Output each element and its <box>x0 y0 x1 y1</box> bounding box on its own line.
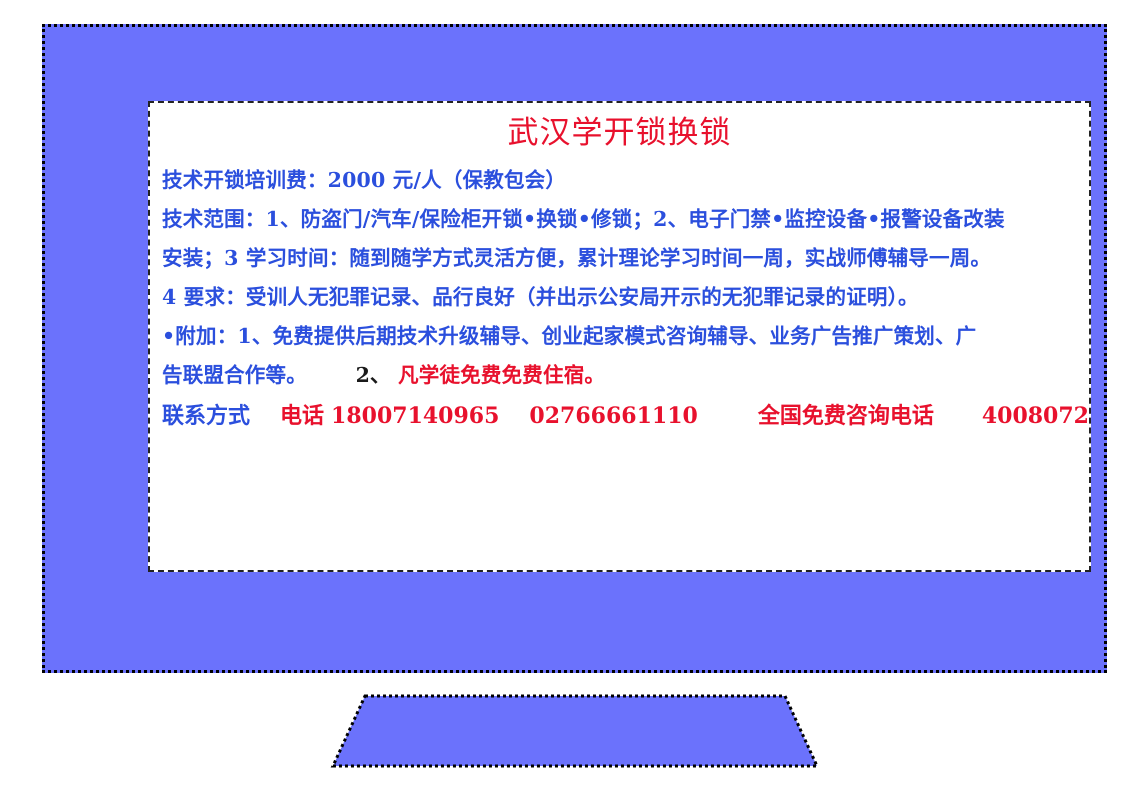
ad-line-scope-part1: 技术范围：1、防盗门/汽车/保险柜开锁•换锁•修锁；2、电子门禁•监控设备•报警… <box>160 200 1079 239</box>
page-root: 武汉学开锁换锁 技术开锁培训费：2000 元/人（保教包会） 技术范围：1、防盗… <box>0 0 1138 800</box>
monitor-stand-shape <box>330 693 820 769</box>
ad-line-extras-part1: •附加：1、免费提供后期技术升级辅导、创业起家模式咨询辅导、业务广告推广策划、广 <box>160 317 1079 356</box>
contact-phone-label: 电话 <box>280 403 324 429</box>
screen-content: 武汉学开锁换锁 技术开锁培训费：2000 元/人（保教包会） 技术范围：1、防盗… <box>150 103 1089 438</box>
contact-label: 联系方式 <box>162 403 250 429</box>
monitor-screen: 武汉学开锁换锁 技术开锁培训费：2000 元/人（保教包会） 技术范围：1、防盗… <box>148 101 1091 572</box>
ad-extras-alliance-text: 告联盟合作等。 <box>162 363 307 387</box>
ad-line-scope-part2: 安装；3 学习时间：随到随学方式灵活方便，累计理论学习时间一周，实战师傅辅导一周… <box>160 239 1079 278</box>
ad-extras-free-lodging: 凡学徒免费免费住宿。 <box>398 363 605 387</box>
stand-trapezoid <box>333 696 817 766</box>
monitor-body: 武汉学开锁换锁 技术开锁培训费：2000 元/人（保教包会） 技术范围：1、防盗… <box>42 24 1107 673</box>
contact-phone-landline: 02766661110 <box>529 403 697 429</box>
ad-line-extras-part2: 告联盟合作等。 2、 凡学徒免费免费住宿。 <box>160 356 1079 395</box>
contact-hotline-label: 全国免费咨询电话 <box>758 403 934 429</box>
ad-title: 武汉学开锁换锁 <box>160 111 1079 155</box>
ad-contact-line: 联系方式 电话 18007140965 02766661110 全国免费咨询电话… <box>160 395 1079 438</box>
ad-extras-item2-number: 2、 <box>356 363 391 387</box>
monitor-stand <box>330 693 820 769</box>
ad-line-training-fee: 技术开锁培训费：2000 元/人（保教包会） <box>160 161 1079 200</box>
contact-phone-mobile: 18007140965 <box>331 403 499 429</box>
ad-line-requirements: 4 要求：受训人无犯罪记录、品行良好（并出示公安局开示的无犯罪记录的证明）。 <box>160 278 1079 317</box>
contact-hotline-number: 4008072110 <box>982 403 1091 429</box>
